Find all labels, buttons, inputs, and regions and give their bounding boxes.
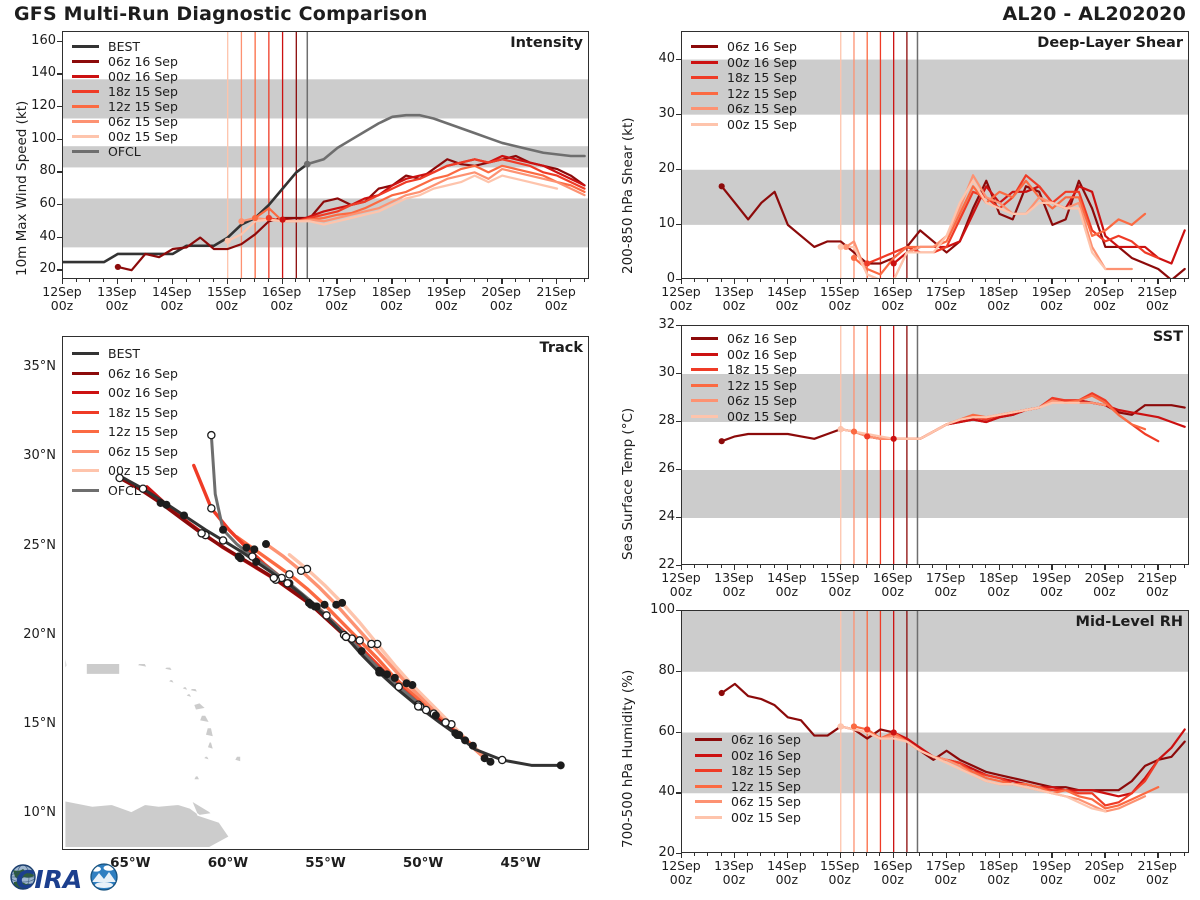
x-minor-tick	[1131, 853, 1132, 856]
series-init-marker	[719, 183, 725, 189]
x-minor-tick	[774, 565, 775, 568]
legend-item-run_18z15[interactable]: 18z 15 Sep	[72, 84, 178, 99]
legend-label-run_00z15: 00z 15 Sep	[727, 117, 797, 132]
legend-item-run_12z15[interactable]: 12z 15 Sep	[691, 86, 797, 102]
x-minor-tick	[747, 279, 748, 282]
x-tick-mark	[999, 279, 1000, 284]
series-init-marker	[115, 264, 121, 270]
x-minor-tick	[800, 853, 801, 856]
x-tick-mark	[840, 853, 841, 858]
legend-swatch-run_00z16	[72, 75, 99, 78]
x-tick-mark	[117, 279, 118, 284]
track-marker-00z	[391, 674, 399, 682]
ofcl-init-marker	[304, 161, 311, 168]
y-tick-label: 28	[619, 413, 675, 428]
x-minor-tick	[1065, 565, 1066, 568]
x-minor-tick	[959, 853, 960, 856]
x-minor-tick	[1118, 565, 1119, 568]
x-minor-tick	[89, 279, 90, 282]
x-tick-mark	[336, 279, 337, 284]
legend-swatch-run_00z16	[691, 353, 718, 356]
track-marker-00z	[262, 540, 270, 548]
x-minor-tick	[131, 279, 132, 282]
legend-swatch-run_00z15	[72, 469, 99, 472]
y-tick-mark	[57, 106, 62, 107]
x-minor-tick	[985, 565, 986, 568]
legend-item-run_06z16[interactable]: 06z 16 Sep	[72, 364, 178, 384]
track-marker-12z	[270, 574, 277, 581]
cira-wordmark: CIRA	[16, 865, 82, 894]
legend-label-run_12z15: 12z 15 Sep	[727, 378, 797, 393]
legend-item-run_00z16[interactable]: 00z 16 Sep	[72, 383, 178, 403]
track-marker-12z	[208, 505, 215, 512]
x-tick-mark	[734, 565, 735, 570]
x-tick-mark	[1104, 279, 1105, 284]
x-minor-tick	[853, 565, 854, 568]
legend-swatch-run_06z16	[72, 60, 99, 63]
legend-label-run_12z15: 12z 15 Sep	[731, 779, 801, 794]
intensity-ylabel: 10m Max Wind Speed (kt)	[14, 101, 30, 276]
legend-swatch-run_12z15	[72, 430, 99, 433]
map-landmass	[86, 664, 119, 675]
legend-label-run_18z15: 18z 15 Sep	[108, 405, 178, 420]
legend-item-run_18z15[interactable]: 18z 15 Sep	[691, 70, 797, 86]
y-tick-label: 80	[619, 663, 675, 678]
y-tick-mark	[57, 73, 62, 74]
legend-label-run_06z16: 06z 16 Sep	[108, 366, 178, 381]
x-tick-mark	[556, 279, 557, 284]
y-tick-label: 120	[0, 98, 56, 113]
map-landmass	[206, 728, 214, 737]
track-marker-00z	[252, 558, 260, 566]
track-marker-12z	[323, 612, 330, 619]
x-minor-tick	[1091, 565, 1092, 568]
track-marker-00z	[332, 601, 340, 609]
legend-swatch-run_12z15	[695, 785, 722, 788]
legend-label-run_12z15: 12z 15 Sep	[108, 424, 178, 439]
x-tick-mark	[1104, 565, 1105, 570]
x-minor-tick	[1144, 565, 1145, 568]
legend-item-run_18z15[interactable]: 18z 15 Sep	[695, 763, 801, 779]
legend-swatch-run_06z16	[72, 372, 99, 375]
legend-swatch-best	[72, 45, 99, 48]
series-init-marker	[891, 436, 897, 442]
x-minor-tick	[1065, 853, 1066, 856]
legend-item-run_06z15[interactable]: 06z 15 Sep	[695, 794, 801, 810]
legend-label-run_00z15: 00z 15 Sep	[108, 129, 178, 144]
shear-legend: 06z 16 Sep00z 16 Sep18z 15 Sep12z 15 Sep…	[691, 39, 797, 132]
x-minor-tick	[240, 279, 241, 282]
x-minor-tick	[433, 279, 434, 282]
track-marker-12z	[356, 637, 363, 644]
x-minor-tick	[364, 279, 365, 282]
map-landmass	[207, 742, 213, 749]
track-marker-00z	[235, 553, 243, 561]
legend-label-run_06z16: 06z 16 Sep	[727, 39, 797, 54]
x-tick-mark	[946, 279, 947, 284]
legend-item-run_00z15[interactable]: 00z 15 Sep	[691, 409, 797, 425]
x-minor-tick	[570, 279, 571, 282]
x-minor-tick	[853, 853, 854, 856]
y-tick-label: 35°N	[0, 359, 56, 374]
x-minor-tick	[906, 565, 907, 568]
legend-item-run_12z15[interactable]: 12z 15 Sep	[691, 378, 797, 394]
map-landmass	[137, 664, 147, 668]
x-minor-tick	[213, 279, 214, 282]
map-landmass	[65, 639, 67, 669]
x-minor-tick	[827, 279, 828, 282]
legend-swatch-run_18z15	[72, 90, 99, 93]
track-marker-12z	[442, 719, 449, 726]
x-minor-tick	[760, 279, 761, 282]
x-tick-mark	[946, 565, 947, 570]
legend-label-run_06z15: 06z 15 Sep	[108, 114, 178, 129]
legend-item-run_00z16[interactable]: 00z 16 Sep	[72, 69, 178, 84]
x-minor-tick	[707, 565, 708, 568]
legend-swatch-run_06z15	[695, 800, 722, 803]
x-minor-tick	[760, 565, 761, 568]
legend-label-run_06z15: 06z 15 Sep	[727, 101, 797, 116]
legend-swatch-run_06z16	[691, 45, 718, 48]
track-marker-00z	[403, 679, 411, 687]
x-minor-tick	[1091, 279, 1092, 282]
legend-swatch-run_18z15	[72, 411, 99, 414]
legend-item-run_06z15[interactable]: 06z 15 Sep	[691, 393, 797, 409]
x-tick-label: 21Sep00z	[524, 285, 588, 313]
x-tick-mark	[1051, 853, 1052, 858]
legend-swatch-run_18z15	[691, 76, 718, 79]
legend-item-run_06z16[interactable]: 06z 16 Sep	[695, 732, 801, 748]
x-minor-tick	[813, 853, 814, 856]
x-minor-tick	[919, 565, 920, 568]
legend-item-run_06z15[interactable]: 06z 15 Sep	[72, 442, 178, 462]
x-minor-tick	[1025, 853, 1026, 856]
legend-item-run_06z15[interactable]: 06z 15 Sep	[691, 101, 797, 117]
x-minor-tick	[1170, 853, 1171, 856]
y-tick-mark	[676, 421, 681, 422]
legend-item-run_00z15[interactable]: 00z 15 Sep	[691, 117, 797, 133]
sst-legend: 06z 16 Sep00z 16 Sep18z 15 Sep12z 15 Sep…	[691, 331, 797, 424]
track-marker-00z	[311, 602, 319, 610]
legend-label-run_12z15: 12z 15 Sep	[108, 99, 178, 114]
sst-panel: SST 06z 16 Sep00z 16 Sep18z 15 Sep12z 15…	[681, 325, 1189, 565]
x-minor-tick	[186, 279, 187, 282]
legend-swatch-ofcl	[72, 150, 99, 153]
y-tick-mark	[676, 114, 681, 115]
legend-label-run_00z16: 00z 16 Sep	[727, 347, 797, 362]
intensity-legend: BEST06z 16 Sep00z 16 Sep18z 15 Sep12z 15…	[72, 39, 178, 159]
x-minor-tick	[1091, 853, 1092, 856]
legend-label-run_18z15: 18z 15 Sep	[108, 84, 178, 99]
x-minor-tick	[959, 565, 960, 568]
x-minor-tick	[76, 279, 77, 282]
legend-item-run_00z15[interactable]: 00z 15 Sep	[72, 461, 178, 481]
map-landmass	[165, 667, 173, 671]
legend-item-run_12z15[interactable]: 12z 15 Sep	[72, 99, 178, 114]
y-tick-label: 20	[0, 261, 56, 276]
map-landmass	[200, 715, 210, 722]
track-marker-12z	[342, 633, 349, 640]
x-tick-mark	[681, 853, 682, 858]
legend-item-run_00z15[interactable]: 00z 15 Sep	[695, 810, 801, 826]
x-minor-tick	[747, 853, 748, 856]
x-minor-tick	[774, 279, 775, 282]
x-minor-tick	[879, 565, 880, 568]
legend-label-run_00z15: 00z 15 Sep	[731, 810, 801, 825]
series-init-marker	[851, 723, 857, 729]
x-minor-tick	[747, 565, 748, 568]
legend-label-run_00z16: 00z 16 Sep	[108, 385, 178, 400]
rh-ylabel: 700-500 hPa Humidity (%)	[620, 670, 636, 848]
x-minor-tick	[419, 279, 420, 282]
x-minor-tick	[800, 279, 801, 282]
track-marker-12z	[219, 537, 226, 544]
x-minor-tick	[460, 279, 461, 282]
track-marker-00z	[358, 647, 366, 655]
x-minor-tick	[813, 279, 814, 282]
legend-item-run_00z15[interactable]: 00z 15 Sep	[72, 129, 178, 144]
legend-swatch-run_06z15	[72, 120, 99, 123]
x-tick-mark	[787, 565, 788, 570]
x-tick-mark	[227, 279, 228, 284]
track-legend: BEST06z 16 Sep00z 16 Sep18z 15 Sep12z 15…	[72, 344, 178, 500]
track-panel: Track BEST06z 16 Sep00z 16 Sep18z 15 Sep…	[62, 336, 589, 850]
x-tick-mark	[840, 279, 841, 284]
legend-swatch-run_00z15	[72, 135, 99, 138]
track-marker-00z	[432, 711, 440, 719]
x-minor-tick	[1078, 853, 1079, 856]
x-minor-tick	[800, 565, 801, 568]
x-minor-tick	[972, 565, 973, 568]
legend-swatch-run_06z15	[72, 450, 99, 453]
x-minor-tick	[827, 853, 828, 856]
x-minor-tick	[144, 279, 145, 282]
legend-swatch-run_18z15	[695, 769, 722, 772]
x-minor-tick	[529, 279, 530, 282]
y-tick-mark	[676, 469, 681, 470]
x-minor-tick	[309, 279, 310, 282]
x-minor-tick	[694, 565, 695, 568]
y-tick-label: 60	[619, 724, 675, 739]
y-tick-mark	[676, 373, 681, 374]
x-minor-tick	[584, 279, 585, 282]
x-minor-tick	[1065, 279, 1066, 282]
rh-legend: 06z 16 Sep00z 16 Sep18z 15 Sep12z 15 Sep…	[695, 732, 801, 825]
x-minor-tick	[721, 279, 722, 282]
x-minor-tick	[827, 565, 828, 568]
legend-label-run_00z15: 00z 15 Sep	[727, 409, 797, 424]
intensity-title: Intensity	[510, 35, 583, 51]
x-minor-tick	[879, 853, 880, 856]
x-minor-tick	[906, 279, 907, 282]
x-tick-mark	[282, 279, 283, 284]
x-minor-tick	[985, 279, 986, 282]
x-minor-tick	[1184, 279, 1185, 282]
legend-swatch-run_18z15	[691, 368, 718, 371]
legend-item-best[interactable]: BEST	[72, 39, 178, 54]
x-minor-tick	[721, 853, 722, 856]
x-minor-tick	[932, 565, 933, 568]
map-landmass	[168, 680, 174, 684]
legend-item-run_06z16[interactable]: 06z 16 Sep	[691, 39, 797, 55]
sst-ylabel: Sea Surface Temp (°C)	[620, 408, 636, 560]
y-tick-label: 10	[619, 216, 675, 231]
legend-swatch-ofcl	[72, 489, 99, 492]
x-tick-mark	[999, 853, 1000, 858]
x-minor-tick	[972, 279, 973, 282]
x-minor-tick	[542, 279, 543, 282]
y-tick-label: 40	[619, 784, 675, 799]
x-minor-tick	[1144, 853, 1145, 856]
legend-item-run_00z16[interactable]: 00z 16 Sep	[691, 347, 797, 363]
y-tick-label: 30°N	[0, 448, 56, 463]
y-tick-label: 20°N	[0, 627, 56, 642]
x-tick-mark	[1157, 279, 1158, 284]
legend-swatch-run_12z15	[691, 384, 718, 387]
series-init-marker	[838, 426, 844, 432]
map-landmass	[182, 687, 188, 691]
x-minor-tick	[694, 279, 695, 282]
y-tick-mark	[57, 237, 62, 238]
x-tick-label: 21Sep00z	[1125, 285, 1189, 313]
y-tick-mark	[676, 169, 681, 170]
x-tick-label: 21Sep00z	[1125, 859, 1189, 887]
legend-item-run_00z16[interactable]: 00z 16 Sep	[695, 748, 801, 764]
track-marker-00z	[250, 545, 258, 553]
y-tick-mark	[57, 204, 62, 205]
legend-swatch-run_00z15	[691, 123, 718, 126]
legend-item-run_06z16[interactable]: 06z 16 Sep	[691, 331, 797, 347]
y-tick-mark	[676, 325, 681, 326]
map-landmass	[190, 689, 198, 693]
legend-item-run_06z16[interactable]: 06z 16 Sep	[72, 54, 178, 69]
legend-swatch-run_12z15	[72, 105, 99, 108]
intensity-panel: Intensity BEST06z 16 Sep00z 16 Sep18z 15…	[62, 31, 589, 279]
legend-item-best[interactable]: BEST	[72, 344, 178, 364]
x-minor-tick	[932, 853, 933, 856]
x-tick-label: 45°W	[489, 856, 553, 871]
legend-item-run_18z15[interactable]: 18z 15 Sep	[72, 403, 178, 423]
track-marker-00z	[453, 731, 461, 739]
y-tick-mark	[676, 224, 681, 225]
legend-item-ofcl[interactable]: OFCL	[72, 144, 178, 159]
x-minor-tick	[866, 853, 867, 856]
page-title: GFS Multi-Run Diagnostic Comparison	[14, 3, 428, 25]
legend-swatch-run_00z15	[695, 816, 722, 819]
x-tick-mark	[840, 565, 841, 570]
x-minor-tick	[906, 853, 907, 856]
y-tick-mark	[676, 517, 681, 518]
map-landmass	[235, 756, 241, 761]
legend-item-run_18z15[interactable]: 18z 15 Sep	[691, 362, 797, 378]
map-landmass	[65, 801, 229, 847]
x-minor-tick	[972, 853, 973, 856]
x-tick-mark	[1157, 853, 1158, 858]
legend-swatch-run_00z16	[691, 61, 718, 64]
track-marker-00z	[557, 761, 565, 769]
legend-item-run_12z15[interactable]: 12z 15 Sep	[695, 779, 801, 795]
shear-title: Deep-Layer Shear	[1037, 35, 1183, 51]
y-tick-mark	[676, 59, 681, 60]
x-tick-label: 60°W	[196, 856, 260, 871]
y-tick-label: 160	[0, 33, 56, 48]
legend-label-run_06z16: 06z 16 Sep	[731, 732, 801, 747]
y-tick-label: 26	[619, 461, 675, 476]
x-minor-tick	[985, 853, 986, 856]
y-tick-label: 25°N	[0, 538, 56, 553]
track-marker-12z	[298, 567, 305, 574]
y-tick-mark	[57, 139, 62, 140]
x-tick-label: 21Sep00z	[1125, 571, 1189, 599]
track-marker-12z	[368, 640, 375, 647]
legend-label-run_00z15: 00z 15 Sep	[108, 463, 178, 478]
legend-label-run_06z16: 06z 16 Sep	[108, 54, 178, 69]
y-tick-mark	[676, 792, 681, 793]
legend-label-run_00z16: 00z 16 Sep	[727, 55, 797, 70]
x-minor-tick	[853, 279, 854, 282]
y-tick-label: 24	[619, 509, 675, 524]
y-tick-mark	[57, 171, 62, 172]
legend-item-run_00z16[interactable]: 00z 16 Sep	[691, 55, 797, 71]
y-tick-mark	[676, 671, 681, 672]
x-minor-tick	[1078, 565, 1079, 568]
x-tick-mark	[787, 279, 788, 284]
x-minor-tick	[721, 565, 722, 568]
x-minor-tick	[866, 565, 867, 568]
y-tick-label: 10°N	[0, 805, 56, 820]
x-minor-tick	[103, 279, 104, 282]
legend-swatch-run_00z16	[695, 754, 722, 757]
x-tick-mark	[62, 279, 63, 284]
x-minor-tick	[959, 279, 960, 282]
series-init-marker	[838, 244, 844, 250]
x-minor-tick	[1025, 279, 1026, 282]
x-tick-mark	[1051, 565, 1052, 570]
x-minor-tick	[378, 279, 379, 282]
x-minor-tick	[932, 279, 933, 282]
x-minor-tick	[707, 279, 708, 282]
series-init-marker	[843, 244, 849, 250]
y-tick-label: 32	[619, 317, 675, 332]
y-tick-label: 20	[619, 161, 675, 176]
legend-swatch-run_00z15	[691, 415, 718, 418]
track-marker-12z	[198, 530, 205, 537]
y-tick-label: 100	[0, 131, 56, 146]
legend-label-run_18z15: 18z 15 Sep	[727, 70, 797, 85]
legend-item-ofcl[interactable]: OFCL	[72, 481, 178, 501]
x-tick-mark	[734, 853, 735, 858]
track-marker-00z	[375, 669, 383, 677]
y-tick-label: 30	[619, 365, 675, 380]
track-marker-00z	[321, 601, 329, 609]
x-minor-tick	[254, 279, 255, 282]
track-marker-12z	[499, 756, 506, 763]
x-minor-tick	[1184, 565, 1185, 568]
legend-label-ofcl: OFCL	[108, 144, 141, 159]
legend-item-run_12z15[interactable]: 12z 15 Sep	[72, 422, 178, 442]
series-init-marker	[252, 215, 258, 221]
legend-item-run_06z15[interactable]: 06z 15 Sep	[72, 114, 178, 129]
track-marker-12z	[208, 432, 215, 439]
track-marker-00z	[180, 511, 188, 519]
y-tick-label: 60	[0, 196, 56, 211]
legend-label-run_06z15: 06z 15 Sep	[108, 444, 178, 459]
x-minor-tick	[323, 279, 324, 282]
legend-label-run_00z16: 00z 16 Sep	[731, 748, 801, 763]
y-tick-mark	[57, 41, 62, 42]
x-minor-tick	[158, 279, 159, 282]
x-minor-tick	[1025, 565, 1026, 568]
